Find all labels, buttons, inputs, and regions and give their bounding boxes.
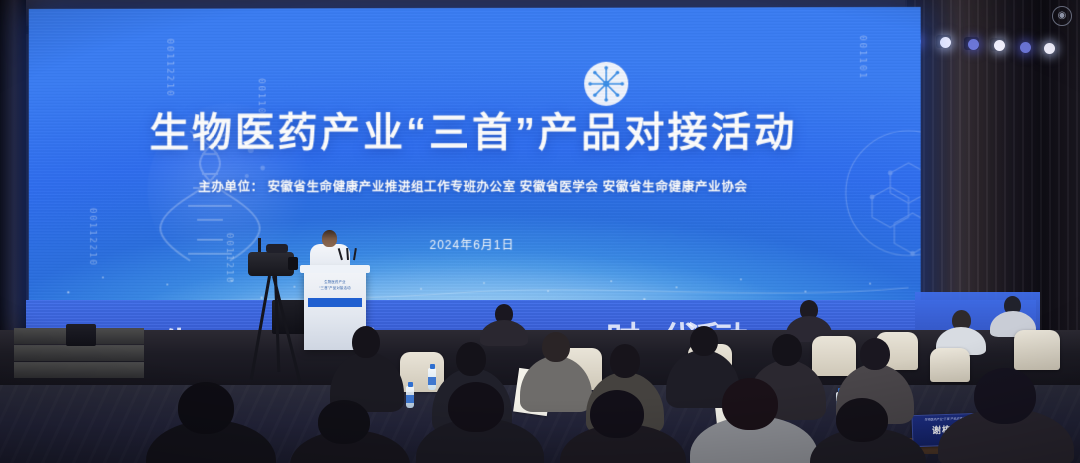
- conference-chair: [1014, 330, 1060, 370]
- conference-chair: [812, 336, 856, 376]
- audience-head: [974, 368, 1036, 424]
- camera-mic: [258, 238, 261, 252]
- stage-lamp: [1020, 42, 1031, 53]
- audience-head: [860, 338, 890, 370]
- event-date: 2024年6月1日: [29, 236, 921, 254]
- water-bottle: [428, 368, 436, 390]
- stage-lamp: [994, 40, 1005, 51]
- audience-head: [318, 400, 370, 444]
- audience-head: [590, 390, 644, 438]
- stage-lamp: [1044, 43, 1055, 54]
- podium-top: [300, 265, 370, 273]
- conference-hall-photo: ◉: [0, 0, 1080, 463]
- audience-head: [610, 344, 640, 378]
- conference-chair: [930, 348, 970, 382]
- audience-head: [772, 334, 802, 366]
- digit-column: 00112210: [163, 39, 174, 98]
- event-title: 生物医药产业“三首”产品对接活动: [29, 100, 921, 159]
- podium-microphones: [341, 248, 359, 258]
- podium-title-line1: 生物医药产业: [309, 280, 361, 285]
- audience-head: [456, 342, 486, 376]
- audience-head: [542, 332, 570, 362]
- led-main-screen: 00112210 0011010 00112210 0011210 001101…: [29, 7, 921, 334]
- stage-lamp: [940, 37, 951, 48]
- podium-title-line2: “三首”产品对接活动: [309, 286, 361, 291]
- camera-lens-icon: [288, 257, 298, 270]
- speaker-head: [322, 230, 337, 247]
- water-bottle: [406, 386, 414, 408]
- stage-monitor-speaker: [66, 324, 96, 346]
- audience-head: [722, 378, 778, 430]
- audience-head: [352, 326, 380, 358]
- audience-head: [178, 382, 234, 434]
- audience-head: [690, 326, 718, 356]
- camera-handle: [266, 244, 288, 253]
- event-organizers: 主办单位： 安徽省生命健康产业推进组工作专班办公室 安徽省医学会 安徽省生命健康…: [29, 176, 921, 195]
- audience-head: [836, 398, 888, 442]
- corner-mark-icon: ◉: [1052, 6, 1072, 26]
- audience-head: [448, 382, 504, 432]
- video-camera: [248, 252, 294, 276]
- podium-accent-band: [308, 298, 362, 307]
- digit-column: 001101: [856, 35, 867, 80]
- stage-lamp: [968, 39, 979, 50]
